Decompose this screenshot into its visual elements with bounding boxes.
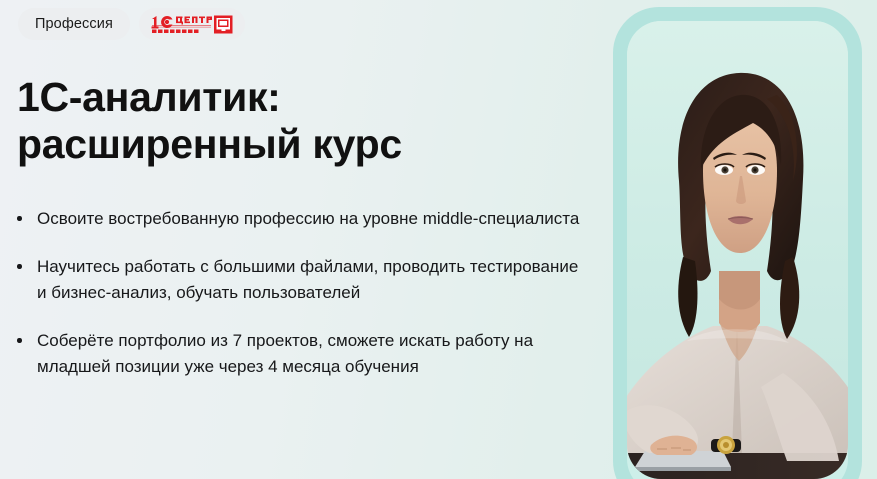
bullet-dot-icon: [17, 264, 22, 269]
page-title: 1С-аналитик: расширенный курс: [17, 74, 557, 167]
page-title-line-2: расширенный курс: [17, 121, 557, 168]
bullet-dot-icon: [17, 216, 22, 221]
instructor-photo-card: [613, 7, 862, 479]
benefit-list: Освоите востребованную профессию на уров…: [16, 206, 582, 380]
1c-certified-training-center-logo-icon: [150, 14, 234, 35]
bullet-dot-icon: [17, 338, 22, 343]
page-title-line-1: 1С-аналитик:: [17, 74, 557, 121]
instructor-photo: [627, 21, 848, 479]
list-item: Освоите востребованную профессию на уров…: [16, 206, 582, 232]
list-item: Соберёте портфолио из 7 проектов, сможет…: [16, 328, 582, 380]
list-item: Научитесь работать с большими файлами, п…: [16, 254, 582, 306]
category-badge[interactable]: Профессия: [18, 8, 130, 40]
instructor-photo-card-inner: [627, 21, 848, 479]
badge-row: Профессия: [18, 8, 245, 40]
category-badge-label: Профессия: [18, 16, 130, 32]
benefit-text: Научитесь работать с большими файлами, п…: [37, 257, 578, 302]
benefit-text: Освоите востребованную профессию на уров…: [37, 209, 579, 228]
brand-badge[interactable]: [139, 8, 245, 40]
benefit-text: Соберёте портфолио из 7 проектов, сможет…: [37, 331, 533, 376]
